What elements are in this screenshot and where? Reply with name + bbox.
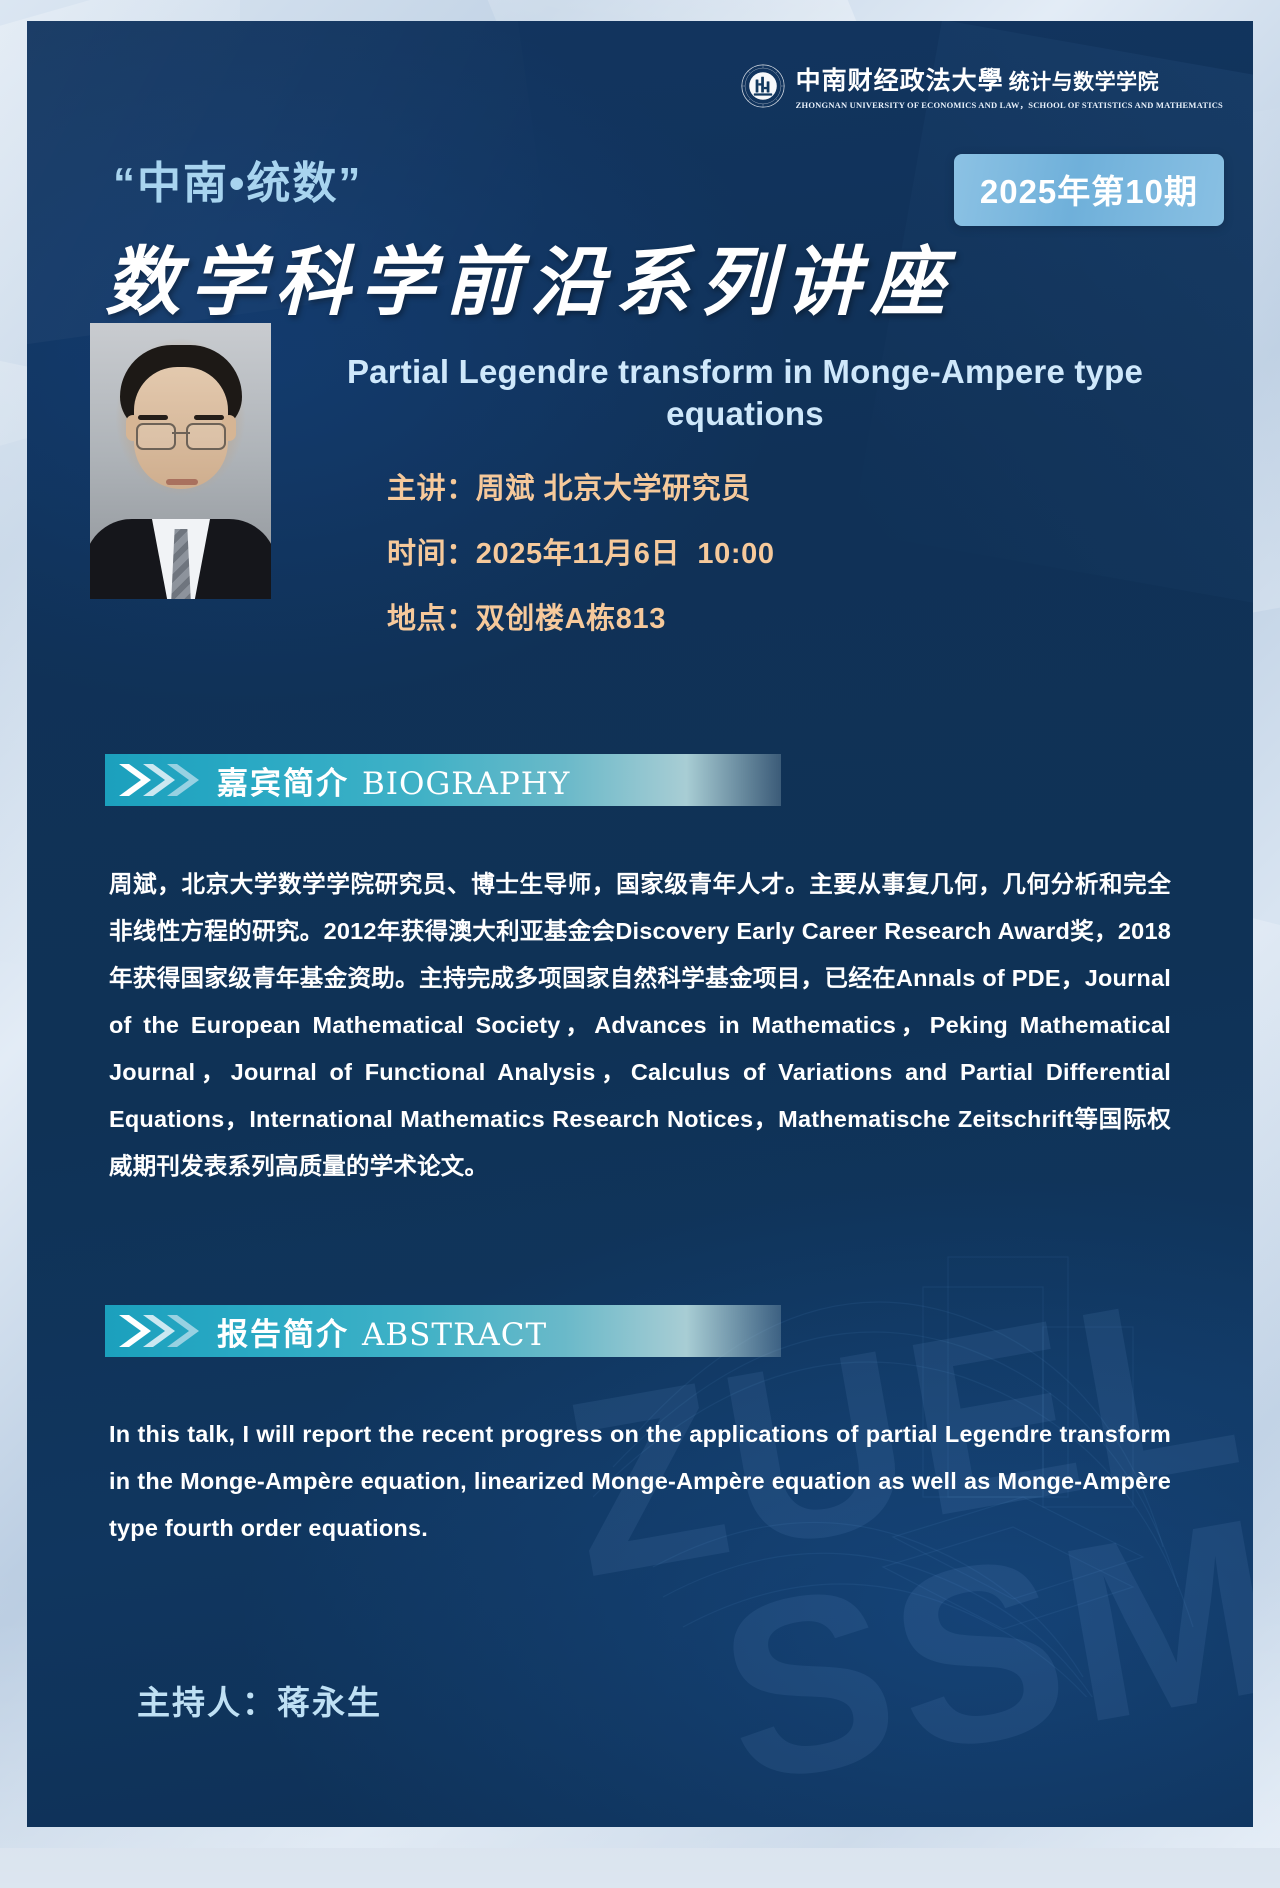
abstract-section-header: 报告简介 ABSTRACT: [105, 1305, 781, 1357]
abstract-text: In this talk, I will report the recent p…: [109, 1411, 1171, 1552]
talk-info: Partial Legendre transform in Monge-Ampe…: [293, 351, 1197, 660]
talk-title: Partial Legendre transform in Monge-Ampe…: [293, 351, 1197, 435]
logo-university-name: 中南财经政法大學: [796, 61, 1004, 97]
host-line: 主持人：蒋永生: [137, 1676, 382, 1724]
glasses-icon: [134, 423, 228, 447]
double-chevron-right-icon: [117, 1312, 203, 1350]
speaker-line: 主讲：周斌 北京大学研究员: [387, 465, 1197, 507]
abstract-heading-en: ABSTRACT: [362, 1317, 547, 1353]
series-title: 数学科学前沿系列讲座: [105, 221, 955, 330]
time-line: 时间：2025年11月6日 10:00: [387, 530, 1197, 572]
speaker-photo: [90, 323, 271, 599]
poster-panel: ZUEL SSM 中南财经政法大學 统计与数学学院: [27, 21, 1253, 1827]
university-seal-icon: [740, 63, 786, 109]
biography-heading-cn: 嘉宾简介: [217, 758, 349, 803]
biography-text: 周斌，北京大学数学学院研究员、博士生导师，国家级青年人才。主要从事复几何，几何分…: [109, 861, 1171, 1190]
location-line: 地点：双创楼A栋813: [387, 595, 1197, 637]
university-logo: 中南财经政法大學 统计与数学学院 ZHONGNAN UNIVERSITY OF …: [740, 61, 1223, 111]
abstract-heading-cn: 报告简介: [217, 1309, 349, 1354]
issue-badge: 2025年第10期: [954, 154, 1224, 226]
talk-meta: 主讲：周斌 北京大学研究员 时间：2025年11月6日 10:00 地点：双创楼…: [293, 465, 1197, 637]
logo-school-name: 统计与数学学院: [1009, 66, 1160, 96]
logo-english-name: ZHONGNAN UNIVERSITY OF ECONOMICS AND LAW…: [796, 99, 1223, 111]
biography-section-header: 嘉宾简介 BIOGRAPHY: [105, 754, 781, 806]
series-subtitle: “中南•统数”: [113, 147, 362, 211]
biography-heading-en: BIOGRAPHY: [362, 766, 570, 802]
double-chevron-right-icon: [117, 761, 203, 799]
